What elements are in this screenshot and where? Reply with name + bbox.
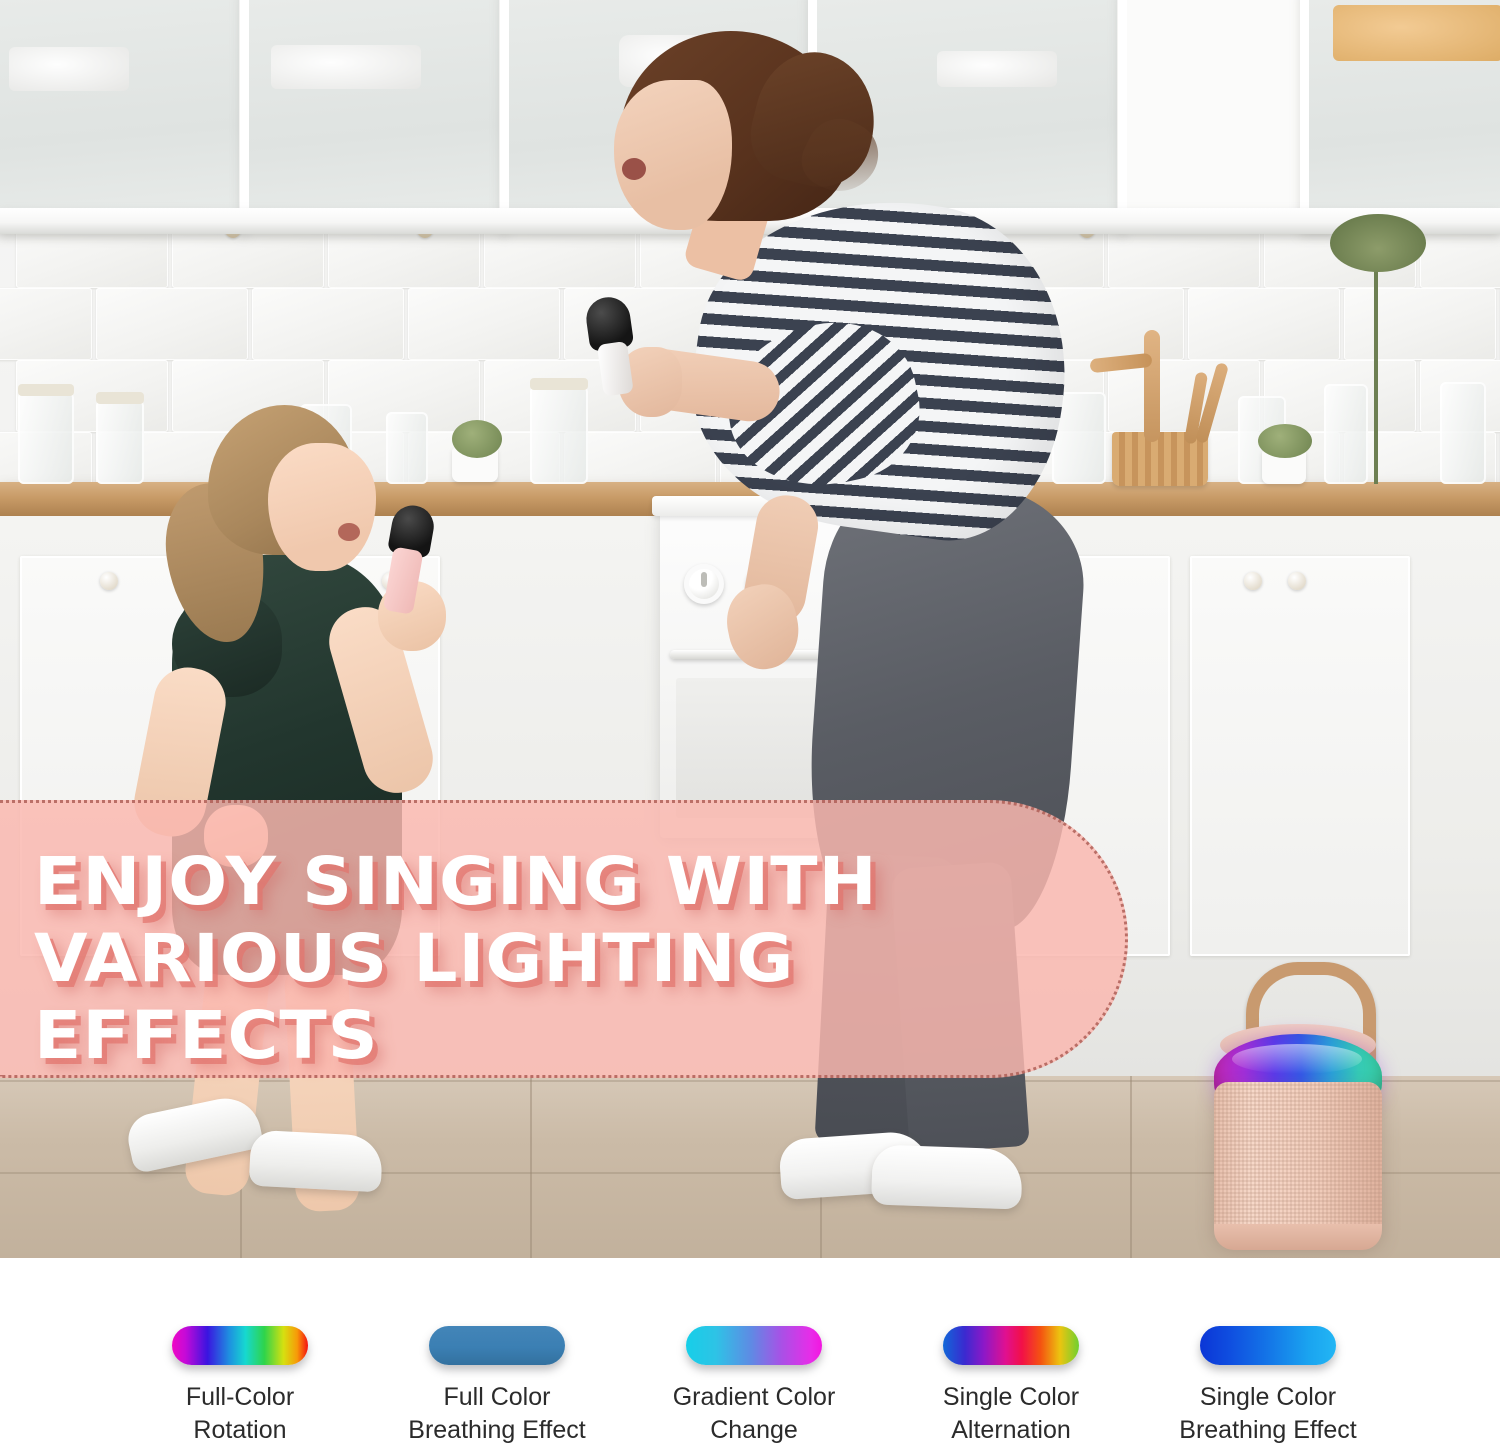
legend-item-4: Single Color Breathing Effect bbox=[1146, 1258, 1390, 1447]
legend-item-2: Gradient Color Change bbox=[632, 1258, 876, 1447]
page-title: ENJOY SINGING WITH VARIOUS LIGHTING EFFE… bbox=[34, 843, 1147, 1075]
cyan-magenta-gradient-pill bbox=[686, 1326, 822, 1365]
tile bbox=[96, 288, 248, 360]
legend-item-label: Full Color Breathing Effect bbox=[408, 1381, 585, 1447]
lighting-effects-legend: Full-Color RotationFull Color Breathing … bbox=[0, 1258, 1500, 1453]
tile bbox=[1188, 288, 1340, 360]
lifestyle-photo: ENJOY SINGING WITH VARIOUS LIGHTING EFFE… bbox=[0, 0, 1500, 1258]
legend-row: Full-Color RotationFull Color Breathing … bbox=[118, 1258, 1390, 1453]
tile bbox=[1344, 288, 1496, 360]
legend-item-label: Single Color Alternation bbox=[943, 1381, 1079, 1447]
karaoke-speaker-product bbox=[1206, 962, 1388, 1258]
legend-item-1: Full Color Breathing Effect bbox=[375, 1258, 619, 1447]
rainbow-rotation-pill bbox=[172, 1326, 308, 1365]
solid-blue-pill bbox=[429, 1326, 565, 1365]
legend-item-3: Single Color Alternation bbox=[889, 1258, 1133, 1447]
product-feature-image: ENJOY SINGING WITH VARIOUS LIGHTING EFFE… bbox=[0, 0, 1500, 1453]
speaker-ring-gloss bbox=[1232, 1044, 1362, 1074]
legend-item-label: Full-Color Rotation bbox=[186, 1381, 294, 1447]
tile bbox=[252, 288, 404, 360]
blue-to-green-spectrum-pill bbox=[943, 1326, 1079, 1365]
legend-item-0: Full-Color Rotation bbox=[118, 1258, 362, 1447]
legend-item-label: Gradient Color Change bbox=[673, 1381, 836, 1447]
blue-breathing-pill bbox=[1200, 1326, 1336, 1365]
tile bbox=[0, 288, 92, 360]
legend-item-label: Single Color Breathing Effect bbox=[1179, 1381, 1356, 1447]
tile bbox=[408, 288, 560, 360]
speaker-base bbox=[1214, 1224, 1382, 1250]
speaker-mesh-grille bbox=[1214, 1082, 1382, 1242]
headline-banner: ENJOY SINGING WITH VARIOUS LIGHTING EFFE… bbox=[0, 800, 1128, 1078]
